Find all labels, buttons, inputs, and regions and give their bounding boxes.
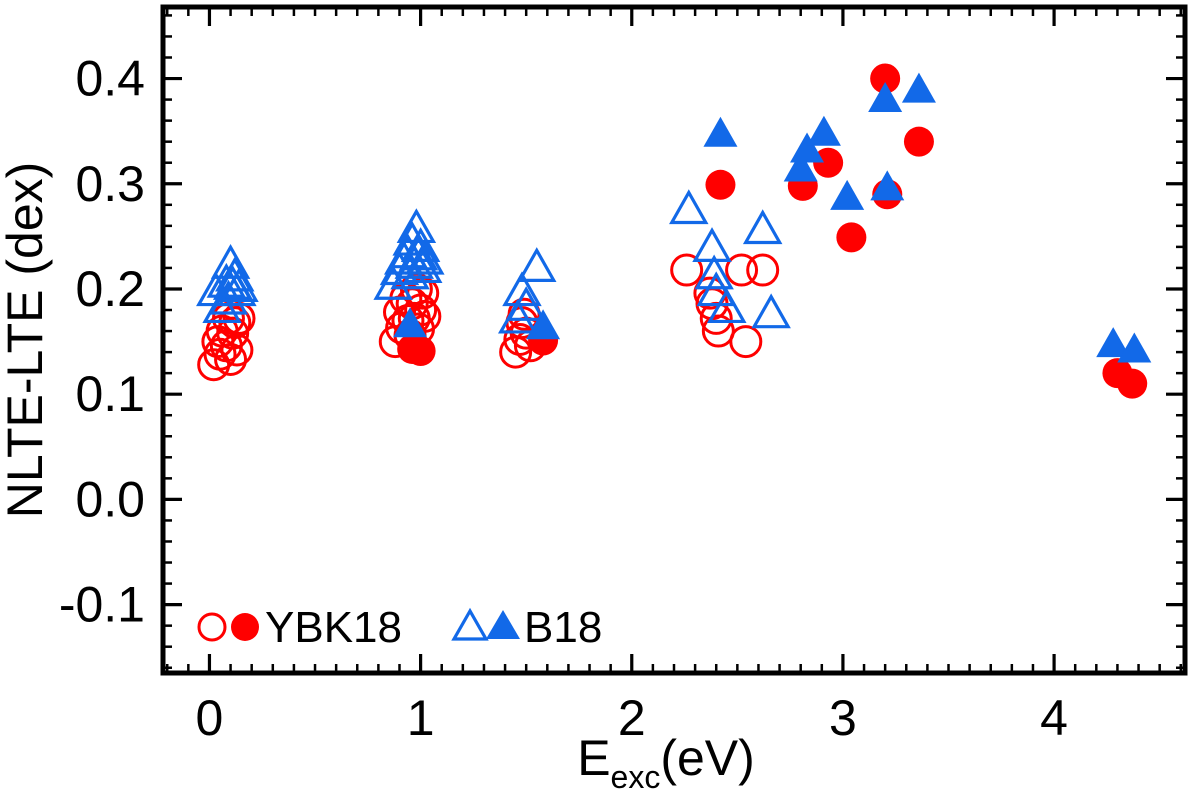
legend-label-ybk18: YBK18 <box>265 603 402 652</box>
x-tick-label: 3 <box>829 690 857 746</box>
plot-background <box>0 0 1200 795</box>
point-ybk18-filled <box>406 336 436 366</box>
point-ybk18-filled <box>1117 369 1147 399</box>
x-tick-label: 0 <box>196 690 224 746</box>
y-tick-label: 0.0 <box>75 471 145 527</box>
plot-canvas: 01234-0.10.00.10.20.30.4 Eexc(eV)NLTE-LT… <box>0 0 1200 795</box>
point-ybk18-filled <box>705 170 735 200</box>
x-tick-label: 1 <box>407 690 435 746</box>
x-tick-label: 4 <box>1040 690 1068 746</box>
scatter-plot-figure: 01234-0.10.00.10.20.30.4 Eexc(eV)NLTE-LT… <box>0 0 1200 795</box>
y-tick-label: 0.4 <box>75 51 145 107</box>
y-axis-label: NLTE-LTE (dex) <box>0 162 53 519</box>
y-tick-label: 0.3 <box>75 156 145 212</box>
x-axis-label: Eexc(eV) <box>577 730 755 795</box>
point-ybk18-filled <box>904 127 934 157</box>
y-tick-label: 0.2 <box>75 261 145 317</box>
x-tick-label: 2 <box>618 690 646 746</box>
y-tick-label: 0.1 <box>75 366 145 422</box>
legend-label-b18: B18 <box>524 603 602 652</box>
legend-marker-ybk18-filled <box>231 613 259 641</box>
y-tick-label: -0.1 <box>59 577 145 633</box>
point-ybk18-filled <box>836 222 866 252</box>
